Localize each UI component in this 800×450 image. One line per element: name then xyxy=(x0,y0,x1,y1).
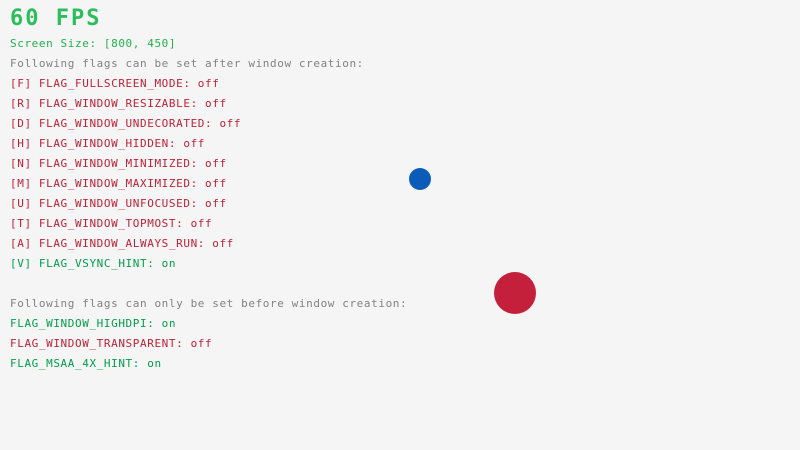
flag-row[interactable]: FLAG_MSAA_4X_HINT: on xyxy=(10,358,162,369)
flag-row[interactable]: [V] FLAG_VSYNC_HINT: on xyxy=(10,258,176,269)
flag-row[interactable]: [D] FLAG_WINDOW_UNDECORATED: off xyxy=(10,118,241,129)
section-header-after-creation: Following flags can be set after window … xyxy=(10,58,364,69)
flag-row[interactable]: FLAG_WINDOW_HIGHDPI: on xyxy=(10,318,176,329)
fps-counter: 60 FPS xyxy=(10,8,101,30)
flag-row[interactable]: [N] FLAG_WINDOW_MINIMIZED: off xyxy=(10,158,227,169)
screen-size-label: Screen Size: [800, 450] xyxy=(10,38,176,49)
flag-row[interactable]: [R] FLAG_WINDOW_RESIZABLE: off xyxy=(10,98,227,109)
red-ball-icon xyxy=(494,272,536,314)
flag-row[interactable]: [U] FLAG_WINDOW_UNFOCUSED: off xyxy=(10,198,227,209)
app-window: 60 FPS Screen Size: [800, 450] Following… xyxy=(0,0,800,450)
flag-row[interactable]: [M] FLAG_WINDOW_MAXIMIZED: off xyxy=(10,178,227,189)
flag-row[interactable]: FLAG_WINDOW_TRANSPARENT: off xyxy=(10,338,212,349)
section-header-before-creation: Following flags can only be set before w… xyxy=(10,298,407,309)
blue-ball-icon xyxy=(409,168,431,190)
flag-row[interactable]: [T] FLAG_WINDOW_TOPMOST: off xyxy=(10,218,212,229)
flag-row[interactable]: [F] FLAG_FULLSCREEN_MODE: off xyxy=(10,78,219,89)
flag-row[interactable]: [A] FLAG_WINDOW_ALWAYS_RUN: off xyxy=(10,238,234,249)
flag-row[interactable]: [H] FLAG_WINDOW_HIDDEN: off xyxy=(10,138,205,149)
